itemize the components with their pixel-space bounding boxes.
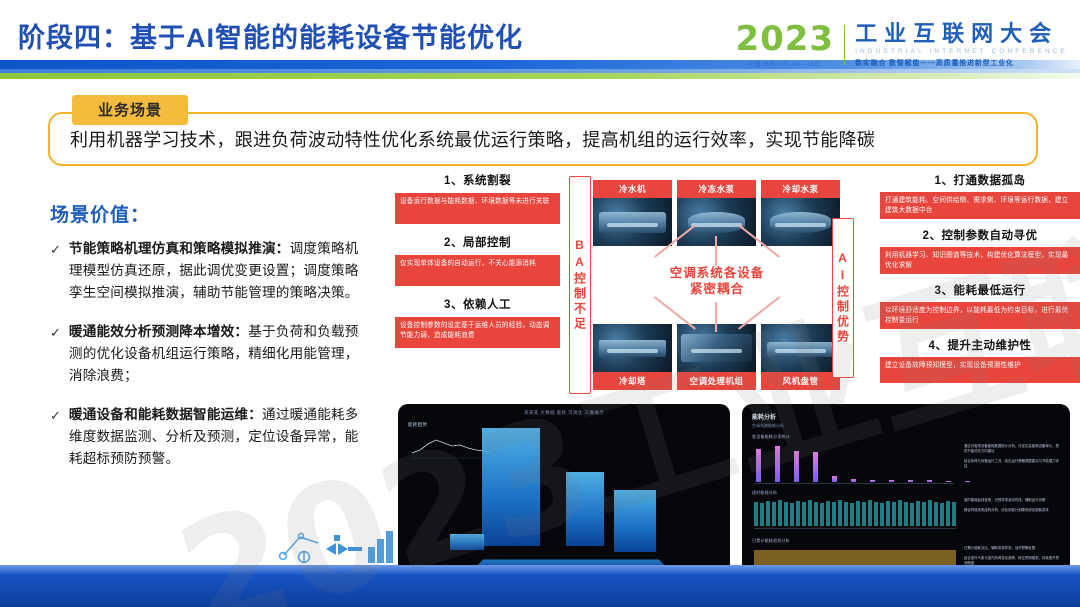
dashboard-section-label-3: 日累计能耗趋势分析 [752, 538, 790, 544]
bar [910, 503, 914, 526]
bar [908, 480, 913, 482]
check-icon: ✓ [50, 238, 61, 304]
fan-coil-photo [761, 324, 840, 372]
axis-1 [754, 483, 954, 484]
ai-item-heading: 3、能耗最低运行 [880, 282, 1080, 298]
ba-item-body: 设备运行数据与能耗数据、环境数据等未进行关联 [395, 193, 560, 224]
bar [790, 503, 794, 526]
bar [832, 476, 837, 482]
chilled-water-pump-photo [677, 198, 756, 246]
bar [934, 502, 938, 526]
bar [862, 502, 866, 526]
coupling-caption-line2: 紧密耦合 [670, 282, 765, 298]
logo-name-cn: 工业互联网大会 [855, 22, 1068, 45]
ahu-photo [677, 324, 756, 372]
bar [886, 501, 890, 526]
bullet-lead: 暖通能效分析预测降本增效： [69, 324, 248, 339]
dashboard-title: 能耗分析 [752, 412, 784, 421]
tower-c-face [614, 490, 656, 552]
bar [898, 500, 902, 526]
ai-item-heading: 4、提升主动维护性 [880, 337, 1080, 353]
ba-item-body: 设备控制参数的设定基于运维人员的经验，动态调节能力弱，造成能耗浪费 [395, 317, 560, 348]
conference-logo: 2023 中国·贵州 9月14日—18日 工业互联网大会 INDUSTRIAL … [735, 22, 1068, 68]
bar [760, 503, 764, 526]
bar [856, 501, 860, 526]
cooling-water-pump-photo [761, 198, 840, 246]
shot-left-title: 某某某 大数据 能耗 可视化 三维展示 [524, 410, 604, 416]
ai-advantage-column: 1、打通数据孤岛 打通建筑能耗、空间供给侧、需求侧、环境等运行数据，建立建筑大数… [880, 172, 1080, 391]
ai-item-body: 以环境舒适度为控制边界，以能耗最低为约束目标，进行最优控制量运行 [880, 302, 1080, 329]
industry-icons [274, 521, 404, 565]
logo-year-block: 2023 中国·贵州 9月14日—18日 [735, 22, 834, 68]
bar [772, 502, 776, 526]
business-scenario-tab: 业务场景 [72, 95, 188, 125]
equipment-card: 风机盘管 [761, 324, 840, 390]
business-scenario-box: 业务场景 利用机器学习技术，跟进负荷波动特性优化系统最优运行策略，提高机组的运行… [48, 112, 1038, 166]
bar [796, 501, 800, 526]
ai-item-heading: 1、打通数据孤岛 [880, 172, 1080, 188]
chiller-photo [593, 198, 672, 246]
bar [820, 503, 824, 526]
bar [940, 503, 944, 526]
coupling-caption: 空调系统各设备 紧密耦合 [670, 266, 765, 297]
ai-advantage-label: AI控制优势 [832, 218, 854, 378]
equipment-card: 冷冻水泵 [677, 180, 756, 246]
tower-c [614, 490, 656, 552]
bar [965, 481, 970, 482]
bar [904, 502, 908, 526]
ba-deficiency-column: 1、系统割裂 设备运行数据与能耗数据、环境数据等未进行关联 2、局部控制 仅实现… [395, 172, 560, 358]
robot-arm-icon [280, 533, 318, 562]
comparison-diagram: 1、系统割裂 设备运行数据与能耗数据、环境数据等未进行关联 2、局部控制 仅实现… [395, 172, 1080, 397]
bar [832, 502, 836, 526]
tower-b [566, 472, 604, 546]
logo-year: 2023 [735, 22, 834, 56]
equipment-label: 空调处理机组 [677, 372, 756, 390]
bar [870, 480, 875, 482]
bullet-lead: 节能策略机理仿真和策略模拟推演： [69, 241, 290, 256]
bar [826, 501, 830, 526]
bar [952, 502, 956, 526]
bar [850, 503, 854, 526]
list-item: ✓ 节能策略机理仿真和策略模拟推演：调度策略机理模型仿真还原，据此调优变更设置；… [50, 238, 370, 304]
ba-control-label: BA控制不足 [569, 176, 591, 394]
bullet-text: 节能策略机理仿真和策略模拟推演：调度策略机理模型仿真还原，据此调优变更设置；调度… [69, 238, 370, 304]
tower-a-face [482, 428, 540, 546]
page-title: 阶段四：基于AI智能的能耗设备节能优化 [18, 16, 523, 55]
bullet-lead: 暖通设备和能耗数据智能运维： [69, 407, 262, 422]
equipment-card: 冷却塔 [593, 324, 672, 390]
equipment-card: 冷却水泵 [761, 180, 840, 246]
equipment-card: 冷水机 [593, 180, 672, 246]
bar [814, 502, 818, 526]
ba-item-body: 仅实现单体设备的自动运行，不关心能源消耗 [395, 255, 560, 286]
dashboard-section-label-1: 各设备能耗分项统计 [752, 434, 790, 440]
equipment-label: 冷却水泵 [761, 180, 840, 198]
axis-2 [754, 528, 956, 529]
dashboard-subtitle: 空调系统能耗分析 [752, 423, 784, 429]
tower-a [482, 428, 540, 546]
bar [892, 502, 896, 526]
factory-bars-icon [368, 531, 393, 563]
business-scenario-text: 利用机器学习技术，跟进负荷波动特性优化系统最优运行策略，提高机组的运行效率，实现… [70, 126, 875, 152]
bar [778, 500, 782, 526]
note: 逐时能耗曲线呈现，识别异常波动时段，辅助运行诊断 [964, 498, 1060, 503]
equipment-label: 风机盘管 [761, 372, 840, 390]
bar [868, 500, 872, 526]
bar [794, 451, 799, 482]
equipment-label: 冷冻水泵 [677, 180, 756, 198]
note: 日累计能耗对比，辅助发现异常，及时预警处置 [964, 546, 1060, 551]
dashboard-header: 能耗分析 空调系统能耗分析 [752, 412, 784, 429]
screenshot-3d-building: 某某某 大数据 能耗 可视化 三维展示 能耗趋势 51 WORLD 三维展示 ·… [398, 404, 730, 592]
header-rule-green [0, 73, 1080, 79]
tower-b-face [566, 472, 604, 546]
ai-item-heading: 2、控制参数自动寻优 [880, 227, 1080, 243]
ai-item-body: 打通建筑能耗、空间供给侧、需求侧、环境等运行数据，建立建筑大数据中台 [880, 192, 1080, 219]
logo-name-block: 工业互联网大会 INDUSTRIAL INTERNET CONFERENCE 数… [855, 22, 1068, 67]
bar [889, 480, 894, 482]
value-section-title: 场景价值： [50, 200, 150, 227]
bar [916, 501, 920, 526]
note-column-2: 逐时能耗曲线呈现，识别异常波动时段，辅助运行诊断 峰谷时段用电结构分析，优化用能… [964, 498, 1064, 518]
logo-date-location: 中国·贵州 9月14日—18日 [749, 60, 821, 68]
ai-item-body: 建立设备故障预知模型，实现设备预测性维护 [880, 357, 1080, 383]
ai-advantage-label-text: AI控制优势 [835, 251, 852, 345]
note: 通过对各类设备能耗数据统计分析，可定位高能耗设备单元，提供节能优化方向建议 [964, 444, 1060, 454]
equipment-label: 冷却塔 [593, 372, 672, 390]
bar [813, 452, 818, 482]
ba-item-heading: 3、依赖人工 [395, 296, 560, 312]
bar [808, 500, 812, 526]
podium [450, 534, 484, 550]
bullet-text: 暖通设备和能耗数据智能运维：通过暖通能耗多维度数据监测、分析及预测，定位设备异常… [69, 404, 370, 470]
screenshot-energy-dashboard: 能耗分析 空调系统能耗分析 各设备能耗分项统计 通过对各类设备能耗数据统计分析，… [742, 404, 1070, 592]
note-column-1: 通过对各类设备能耗数据统计分析，可定位高能耗设备单元，提供节能优化方向建议 结合… [964, 444, 1064, 474]
equipment-card: 空调处理机组 [677, 324, 756, 390]
list-item: ✓ 暖通设备和能耗数据智能运维：通过暖通能耗多维度数据监测、分析及预测，定位设备… [50, 404, 370, 470]
bar [928, 500, 932, 526]
bar-chart-hourly [754, 500, 958, 526]
bar [784, 502, 788, 526]
logo-divider [844, 25, 845, 65]
ai-item-body: 利用机器学习、知识图谱等技术，构建优化算法模型，实现最优化求解 [880, 247, 1080, 274]
bar [802, 502, 806, 526]
note: 峰谷时段用电结构分析，优化用能计划降低综合能耗成本 [964, 508, 1060, 513]
ba-item-heading: 2、局部控制 [395, 234, 560, 250]
equipment-label: 冷水机 [593, 180, 672, 198]
value-bullet-list: ✓ 节能策略机理仿真和策略模拟推演：调度策略机理模型仿真还原，据此调优变更设置；… [50, 238, 370, 487]
bar [838, 500, 842, 526]
coupling-caption-line1: 空调系统各设备 [670, 266, 765, 282]
dashboard-section-label-2: 逐时能耗分析 [752, 490, 777, 496]
logo-name-en: INDUSTRIAL INTERNET CONFERENCE [855, 48, 1068, 55]
bullet-text: 暖通能效分析预测降本增效：基于负荷和负载预测的优化设备机组运行策略，精细化用能管… [69, 321, 370, 387]
bar [851, 479, 856, 482]
hvac-coupling-group: 冷水机 冷冻水泵 冷却水泵 空调系统各设备 紧密耦合 [593, 180, 841, 390]
bar [766, 501, 770, 526]
note: 结合负荷与设备运行工况，给出运行策略调整建议与节能潜力评估 [964, 459, 1060, 469]
bar [927, 480, 932, 482]
bar [775, 446, 780, 482]
slide-root: 阶段四：基于AI智能的能耗设备节能优化 2023 中国·贵州 9月14日—18日… [0, 0, 1080, 607]
bar [880, 503, 884, 526]
cooling-tower-photo [593, 324, 672, 372]
valve-icon [326, 535, 362, 555]
footer-band [0, 565, 1080, 607]
arrow-down-center [715, 302, 717, 332]
logo-tagline: 数实融合 数智赋能——高质量推进新型工业化 [855, 58, 1068, 68]
bar [754, 502, 758, 526]
bar [874, 502, 878, 526]
bar-chart-equipment [756, 444, 984, 482]
ba-control-label-text: BA控制不足 [572, 238, 589, 332]
check-icon: ✓ [50, 404, 61, 470]
equipment-row-bottom: 冷却塔 空调处理机组 风机盘管 [593, 324, 840, 390]
list-item: ✓ 暖通能效分析预测降本增效：基于负荷和负载预测的优化设备机组运行策略，精细化用… [50, 321, 370, 387]
equipment-row-top: 冷水机 冷冻水泵 冷却水泵 [593, 180, 841, 246]
arrow-up-center [715, 236, 717, 266]
check-icon: ✓ [50, 321, 61, 387]
bar [946, 481, 951, 482]
podium-face [450, 534, 484, 550]
ba-item-heading: 1、系统割裂 [395, 172, 560, 188]
mini-trend-chart [410, 431, 492, 461]
bar [946, 501, 950, 526]
bar [922, 502, 926, 526]
bar [844, 502, 848, 526]
bar [756, 449, 761, 482]
